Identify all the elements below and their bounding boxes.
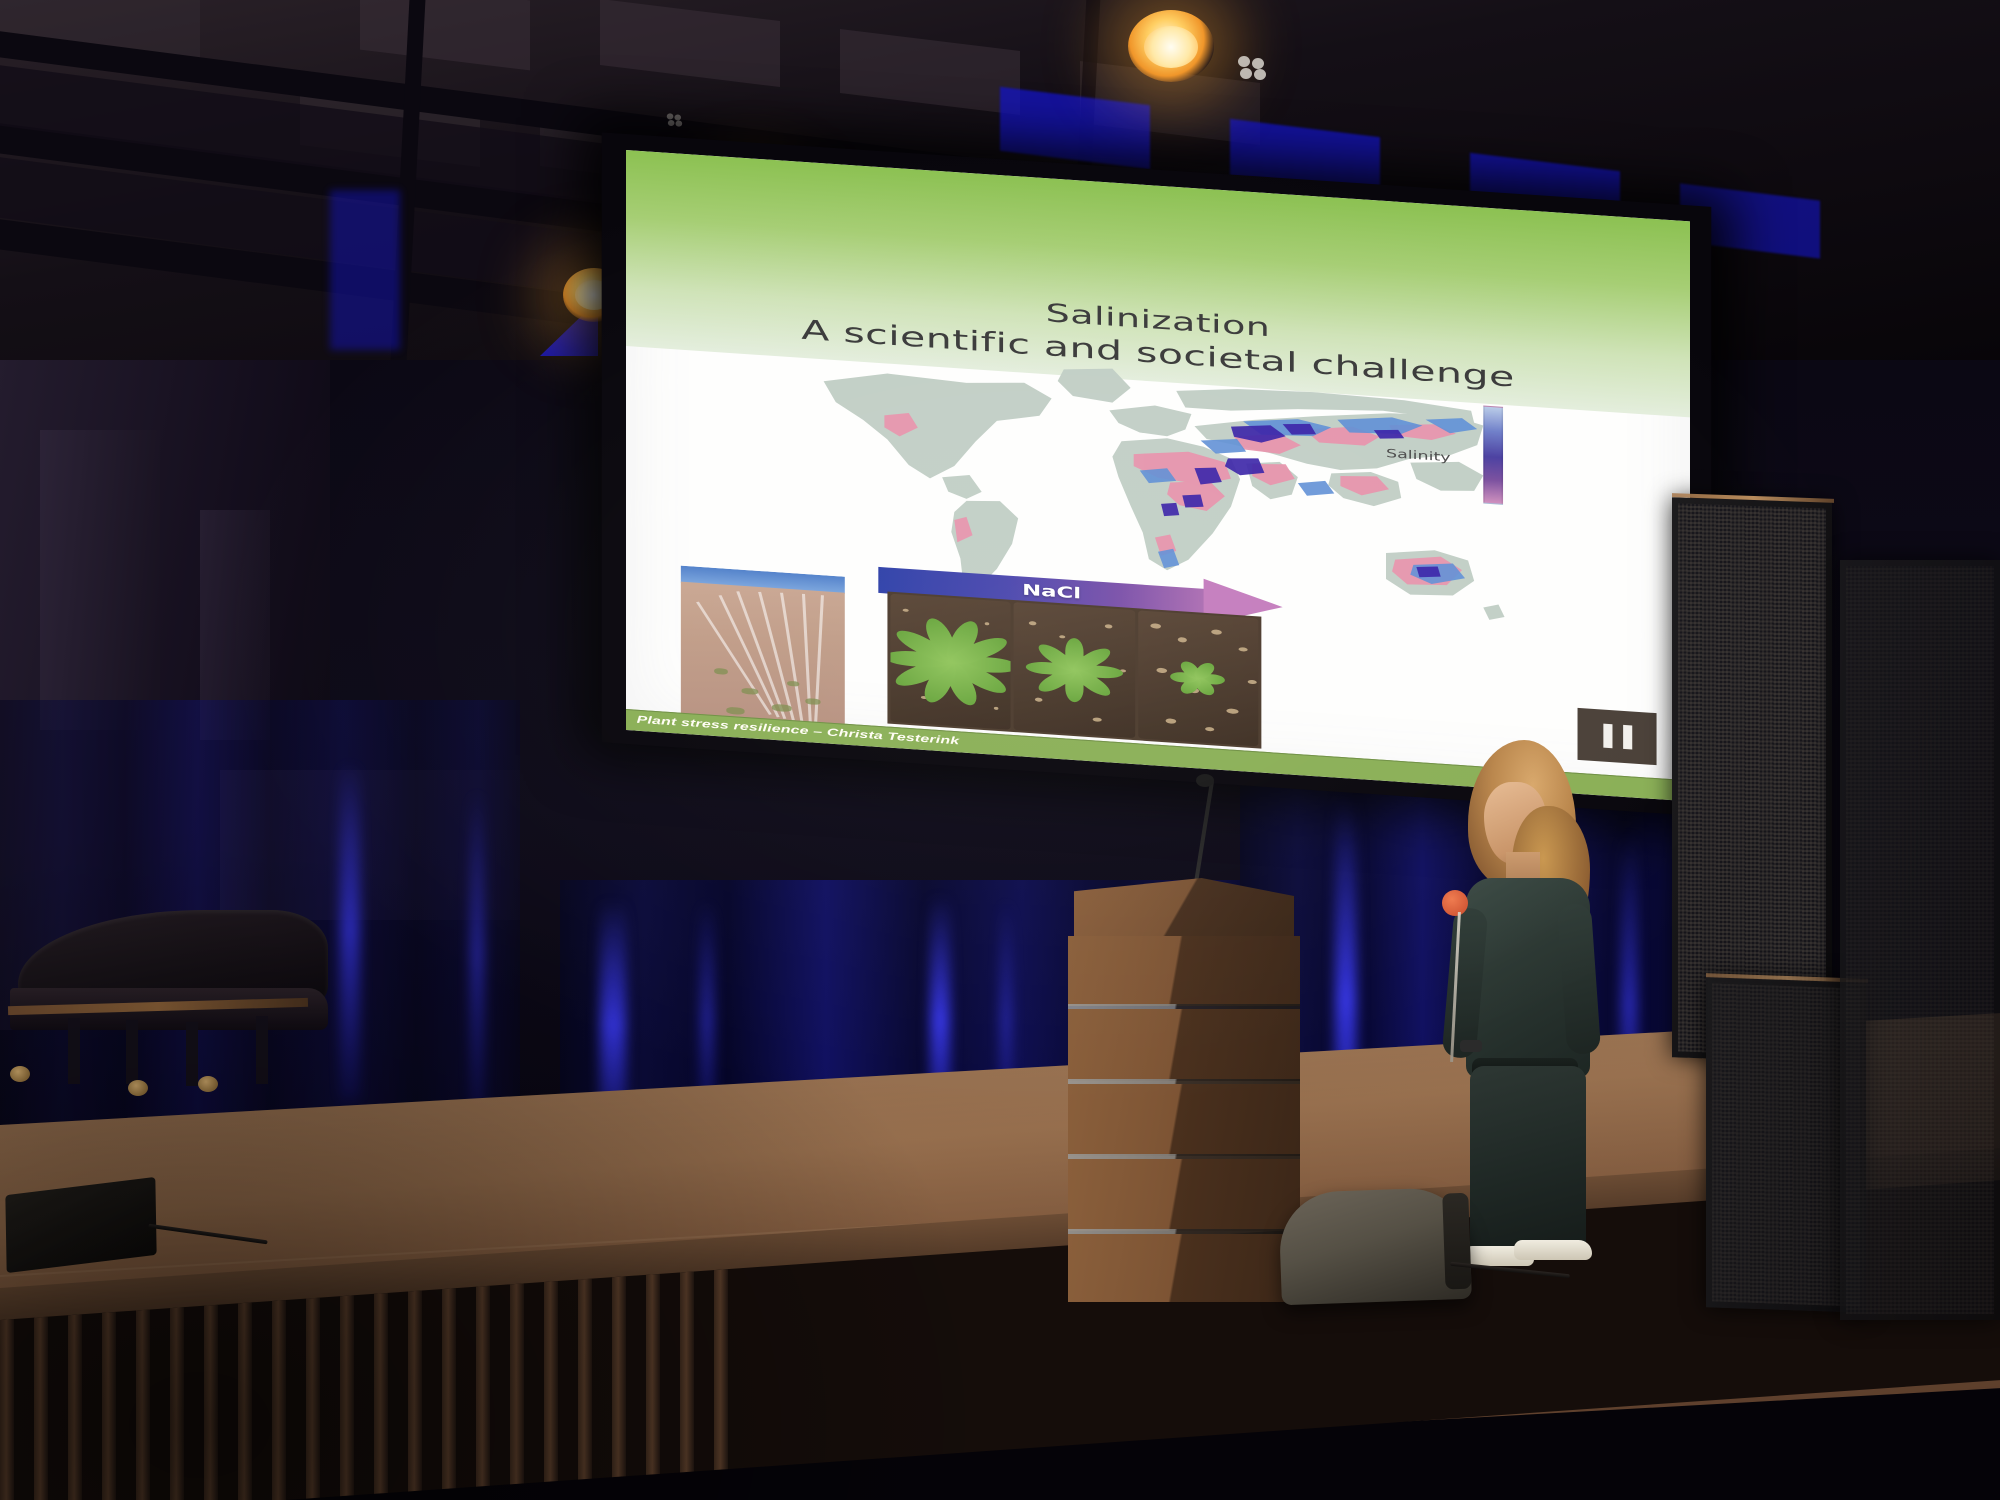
shoe-right bbox=[1514, 1240, 1592, 1260]
curtain-light-streak bbox=[470, 790, 484, 1120]
lectern bbox=[1068, 878, 1300, 1298]
stage-scene: Salinization A scientific and societal c… bbox=[0, 0, 2000, 1500]
led-cluster-icon bbox=[1238, 56, 1268, 80]
plant-panel bbox=[890, 594, 1011, 730]
presenter bbox=[1450, 740, 1610, 1280]
projection-screen: Salinization A scientific and societal c… bbox=[626, 150, 1690, 801]
led-cluster-icon bbox=[667, 113, 684, 126]
stage-light bbox=[1128, 10, 1214, 82]
salinity-colorbar bbox=[1483, 406, 1503, 505]
legs bbox=[1470, 1066, 1586, 1256]
plant-panel bbox=[1138, 610, 1259, 746]
presentation-slide: Salinization A scientific and societal c… bbox=[626, 150, 1690, 801]
plant-panel bbox=[1014, 602, 1135, 738]
grand-piano bbox=[8, 910, 338, 1110]
wristwatch bbox=[1460, 1040, 1482, 1052]
wall-slab bbox=[40, 430, 160, 730]
plant-panels bbox=[887, 592, 1261, 749]
pa-speaker-stack bbox=[1840, 560, 2000, 1320]
curtain-light-streak bbox=[340, 760, 360, 1100]
floor-monitor-wedge bbox=[1278, 1187, 1472, 1306]
lapel-mic-icon bbox=[1442, 890, 1468, 916]
salinized-field-photo bbox=[681, 566, 845, 725]
